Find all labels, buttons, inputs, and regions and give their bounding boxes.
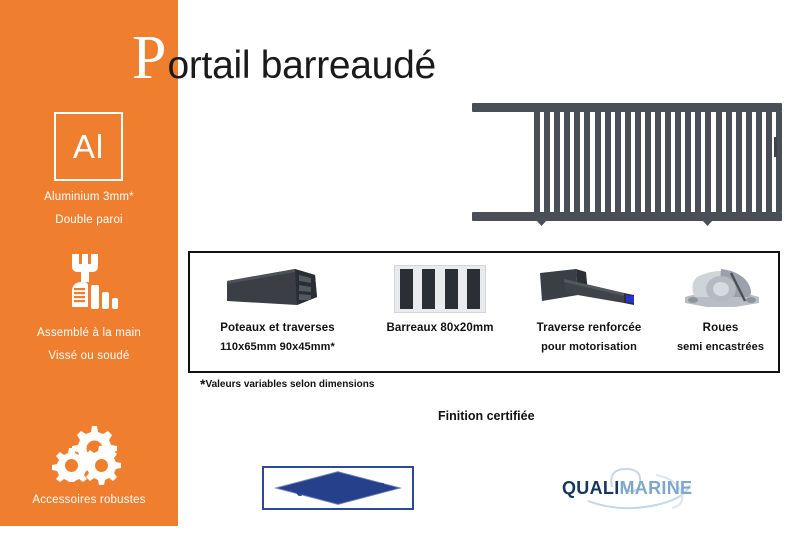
page-title-initial: P: [132, 27, 166, 89]
gears-icon: [50, 424, 128, 486]
gate-bar: [736, 112, 742, 212]
gate-bar: [645, 112, 651, 212]
gate-bar: [695, 112, 701, 212]
product-caption-roues: Roues: [663, 319, 778, 338]
product-subcaption-roues: semi encastrées: [663, 338, 778, 357]
gate-bar: [625, 112, 631, 212]
gate-bar: [716, 112, 722, 212]
gate-bar: [554, 112, 560, 212]
product-figure-poteaux: [190, 259, 365, 319]
gate-bar: [655, 112, 661, 212]
gate-foot-right: [702, 220, 713, 226]
gate-latch: [774, 137, 777, 157]
portail-barreaude-illustration: [472, 103, 782, 221]
wrench-hand-assembly-icon: [58, 252, 120, 312]
gate-bar: [766, 112, 772, 212]
finition-certifiee-label: Finition certifiée: [438, 409, 535, 423]
gate-bar: [665, 112, 671, 212]
product-item-traverse: Traverse renforcée pour motorisation: [515, 253, 663, 371]
qualimarine-label: QUALIMARINE: [562, 478, 692, 499]
aluminium-badge-label: Al: [56, 114, 121, 179]
product-subcaption-traverse: pour motorisation: [515, 338, 663, 357]
product-figure-roues: [663, 259, 778, 319]
product-caption-traverse: Traverse renforcée: [515, 319, 663, 338]
sidebar-feature-accessories-labels: Accessoires robustes: [0, 489, 178, 512]
gate-bar: [564, 112, 570, 212]
qualimarine-logo: QUALIMARINE: [560, 465, 720, 511]
qualimarine-label-part1: QUALI: [562, 478, 620, 498]
reinforced-rail-icon: [534, 265, 644, 313]
gate-bar: [615, 112, 621, 212]
gate-bar: [595, 112, 601, 212]
gate-bar: [574, 112, 580, 212]
gate-bar: [605, 112, 611, 212]
gate-bar: [705, 112, 711, 212]
gate-bar: [675, 112, 681, 212]
sidebar-label-accessories-1: Accessoires robustes: [0, 489, 178, 512]
footnote: *Valeurs variables selon dimensions: [200, 379, 374, 390]
sidebar-label-aluminium-1: Aluminium 3mm*: [0, 186, 178, 209]
gate-bar: [685, 112, 691, 212]
sidebar-label-assembly-2: Vissé ou soudé: [0, 345, 178, 368]
gate-bar: [756, 112, 762, 212]
product-item-barreaux: Barreaux 80x20mm: [365, 253, 515, 371]
sidebar-label-aluminium-2: Double paroi: [0, 209, 178, 232]
sidebar-feature-assembly-labels: Assemblé à la main Vissé ou soudé: [0, 322, 178, 368]
product-caption-poteaux: Poteaux et traverses: [190, 319, 365, 338]
gate-bar: [584, 112, 590, 212]
product-subcaption-poteaux: 110x65mm 90x45mm*: [190, 338, 365, 357]
aluminium-square-icon: Al: [54, 112, 123, 181]
wheel-bearing-icon: [675, 263, 767, 315]
page-title: P ortail barreaudé: [132, 27, 436, 89]
aluminium-post-profile-icon: [225, 267, 331, 309]
product-item-roues: Roues semi encastrées: [663, 253, 778, 371]
product-figure-barreaux: [365, 259, 515, 319]
gate-bar: [635, 112, 641, 212]
vertical-bars-icon: [394, 265, 486, 313]
gate-bar: [534, 112, 540, 212]
gate-bar: [726, 112, 732, 212]
gate-bar: [746, 112, 752, 212]
gate-bar: [544, 112, 550, 212]
gate-foot-left: [536, 220, 547, 226]
footnote-text: Valeurs variables selon dimensions: [205, 379, 374, 390]
page-title-rest: ortail barreaudé: [167, 46, 435, 85]
sidebar-label-assembly-1: Assemblé à la main: [0, 322, 178, 345]
product-features-box: Poteaux et traverses 110x65mm 90x45mm* B…: [188, 251, 780, 373]
sidebar-feature-aluminium-labels: Aluminium 3mm* Double paroi: [0, 186, 178, 232]
product-caption-barreaux: Barreaux 80x20mm: [365, 319, 515, 338]
gate-bottom-rail: [472, 212, 782, 221]
qualicoat-logo: QUALICOAT: [262, 466, 414, 510]
product-figure-traverse: [515, 259, 663, 319]
gate-top-rail: [472, 103, 782, 112]
product-item-poteaux: Poteaux et traverses 110x65mm 90x45mm*: [190, 253, 365, 371]
qualicoat-label: QUALICOAT: [264, 468, 412, 508]
qualimarine-label-part2: MARINE: [620, 478, 693, 498]
gate-bar: [776, 112, 782, 212]
